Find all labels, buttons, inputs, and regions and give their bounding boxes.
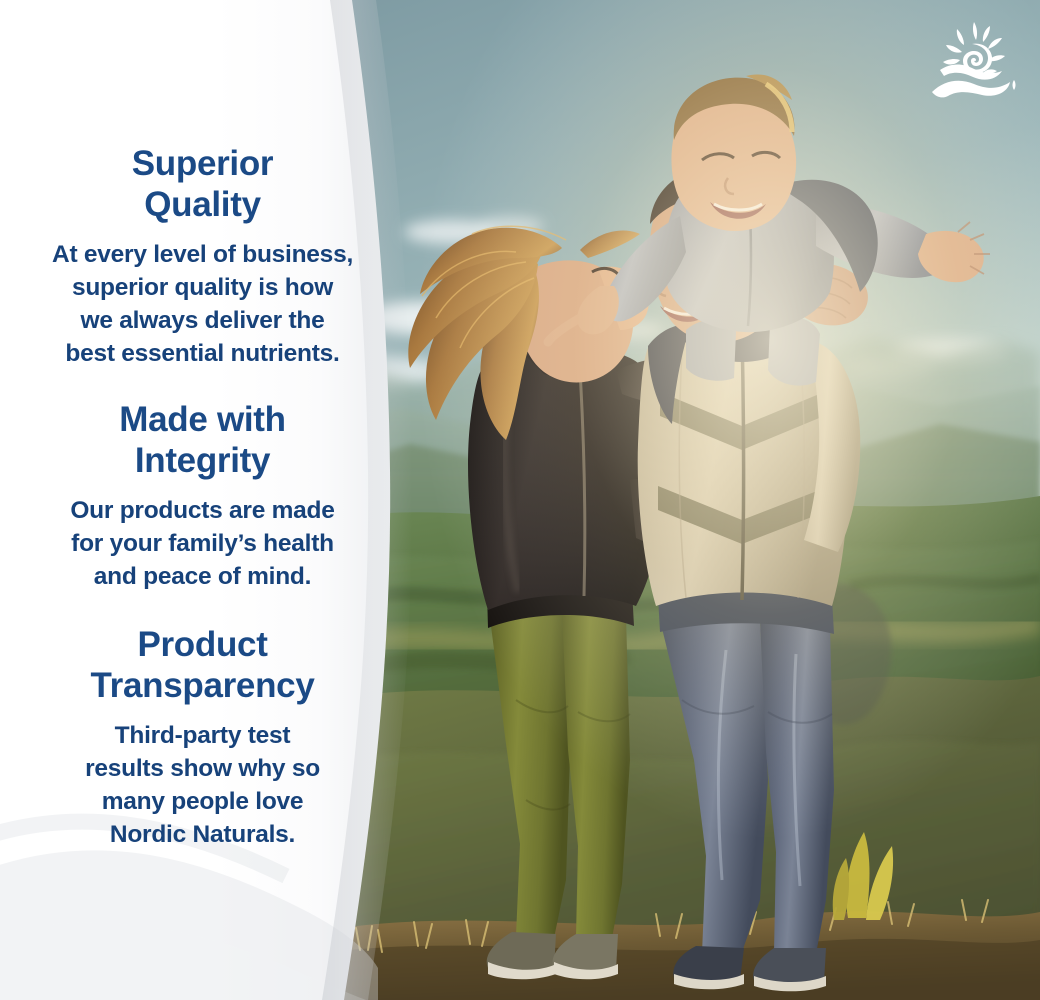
benefit-body-product-transparency: Third-party test results show why so man… (30, 720, 375, 851)
nordic-naturals-sun-and-waves-logo (926, 18, 1020, 100)
benefit-block-superior-quality: Superior Quality At every level of busin… (30, 144, 375, 371)
benefit-heading-product-transparency: Product Transparency (30, 625, 375, 706)
sun-waves-icon (926, 18, 1020, 100)
benefit-heading-superior-quality: Superior Quality (30, 144, 375, 225)
benefit-heading-made-with-integrity: Made with Integrity (30, 400, 375, 481)
benefits-text-column: Superior Quality At every level of busin… (0, 0, 400, 1000)
benefit-body-made-with-integrity: Our products are made for your family’s … (30, 495, 375, 593)
benefit-block-product-transparency: Product Transparency Third-party test re… (30, 625, 375, 852)
benefit-block-made-with-integrity: Made with Integrity Our products are mad… (30, 400, 375, 594)
family-on-mountain-photo (330, 0, 1040, 1000)
benefit-body-superior-quality: At every level of business, superior qua… (30, 239, 375, 370)
marketing-banner: Superior Quality At every level of busin… (0, 0, 1040, 1000)
